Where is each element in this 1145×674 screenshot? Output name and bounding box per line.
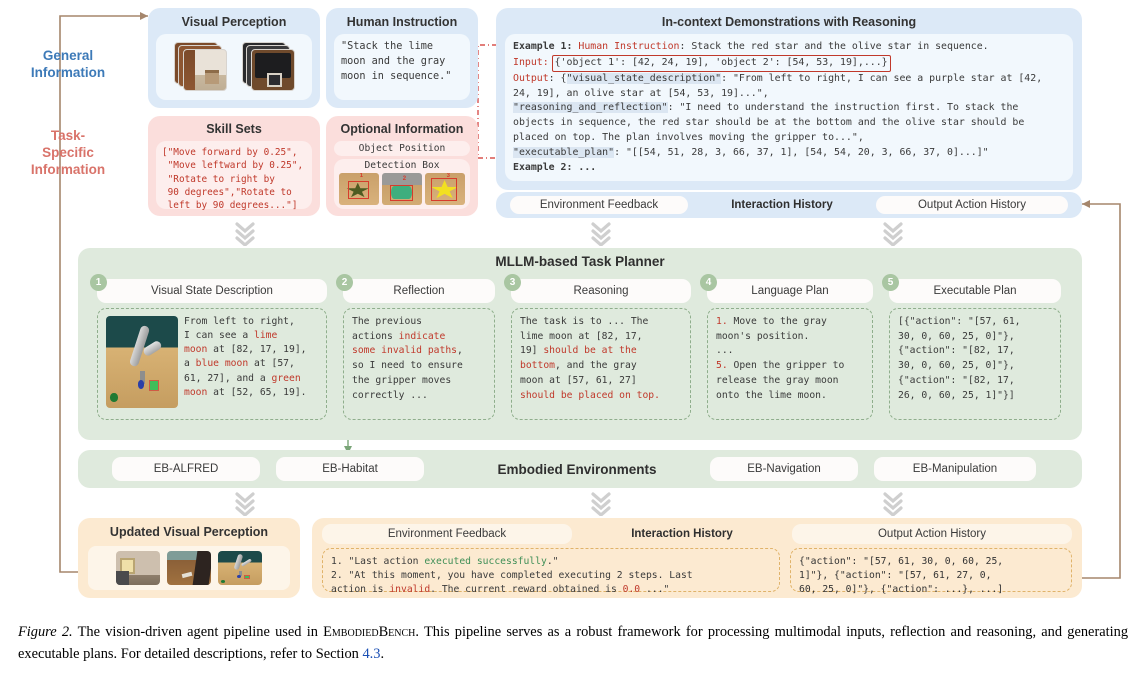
general-information-label: General Information xyxy=(8,48,128,82)
step-badge-1: 1 xyxy=(90,274,107,291)
icl-input-line: Input: {'object 1': [42, 24, 19], 'objec… xyxy=(513,55,1065,72)
updated-thumb-robot xyxy=(218,551,262,585)
skill-sets-card: Skill Sets ["Move forward by 0.25", "Mov… xyxy=(148,116,320,216)
caption-period: . xyxy=(380,646,384,662)
step-body-visual-state-description: From left to right, I can see a lime moo… xyxy=(97,308,327,420)
skill-sets-title: Skill Sets xyxy=(148,122,320,136)
section-reference-link[interactable]: 4.3 xyxy=(362,646,380,662)
detection-label-2: 2 xyxy=(403,176,406,182)
icl-key-visual: "visual_state_description" xyxy=(567,73,722,84)
icl-reasoning-line: "reasoning_and_reflection": "I need to u… xyxy=(513,101,1065,146)
optional-information-card: Optional Information Object Position Det… xyxy=(326,116,478,216)
updated-thumb-kitchen xyxy=(116,551,160,585)
environment-feedback-body: 1. "Last action executed successfully." … xyxy=(322,548,780,592)
icl-example1-role: Human Instruction xyxy=(572,41,679,52)
icl-example1-label: Example 1: xyxy=(513,41,572,52)
task-specific-information-label: Task- Specific Information xyxy=(8,128,128,179)
detection-box-label: Detection Box xyxy=(334,159,470,171)
caption-benchmark-name: EmbodiedBench xyxy=(323,624,415,640)
icl-example1-line: Example 1: Human Instruction: Stack the … xyxy=(513,40,1065,55)
detection-label-1: 1 xyxy=(360,173,363,179)
detection-thumbs: 1 2 3 xyxy=(334,173,470,205)
human-instruction-text: "Stack the lime moon and the gray moon i… xyxy=(334,34,470,100)
detection-label-3: 3 xyxy=(447,173,450,179)
chevron-down-icon-6 xyxy=(880,490,906,516)
tab-environment-feedback-top[interactable]: Environment Feedback xyxy=(510,196,688,214)
object-position-pill[interactable]: Object Position xyxy=(334,141,470,156)
step-badge-5: 5 xyxy=(882,274,899,291)
in-context-demonstrations-card: In-context Demonstrations with Reasoning… xyxy=(496,8,1082,190)
optional-information-title: Optional Information xyxy=(326,122,478,136)
bottom-feedback-card: Environment Feedback Interaction History… xyxy=(312,518,1082,598)
chevron-down-icon-2 xyxy=(588,220,614,246)
chevron-down-icon-5 xyxy=(588,490,614,516)
env-eb-navigation[interactable]: EB-Navigation xyxy=(710,457,858,481)
icl-input-value: {'object 1': [42, 24, 19], 'object 2': [… xyxy=(552,55,891,72)
history-tabs-top: Environment Feedback Interaction History… xyxy=(496,192,1082,218)
skill-sets-text: ["Move forward by 0.25", "Move leftward … xyxy=(156,141,312,209)
human-instruction-card: Human Instruction "Stack the lime moon a… xyxy=(326,8,478,108)
icl-key-plan: "executable_plan" xyxy=(513,147,614,158)
step-badge-3: 3 xyxy=(504,274,521,291)
chevron-down-icon-4 xyxy=(232,490,258,516)
robot-scene-image xyxy=(106,316,178,408)
mllm-task-planner-title: MLLM-based Task Planner xyxy=(78,254,1082,269)
updated-thumb-floor xyxy=(167,551,211,585)
tab-output-action-history-bottom[interactable]: Output Action History xyxy=(792,524,1072,544)
image-stack-alfred xyxy=(174,42,226,92)
icl-input-label: Input: xyxy=(513,56,549,71)
step-title-reasoning[interactable]: Reasoning xyxy=(511,279,691,303)
step-title-reflection[interactable]: Reflection xyxy=(343,279,495,303)
step-badge-4: 4 xyxy=(700,274,717,291)
chevron-down-icon-3 xyxy=(880,220,906,246)
detection-thumb-2: 2 xyxy=(382,173,422,205)
chevron-down-icon-1 xyxy=(232,220,258,246)
embodied-environments-title: Embodied Environments xyxy=(468,457,686,481)
image-stack-desk xyxy=(242,42,294,92)
detection-box-panel: Detection Box 1 2 3 xyxy=(334,159,470,209)
step-body-executable-plan: [{"action": "[57, 61, 30, 0, 60, 25, 0]"… xyxy=(889,308,1061,420)
visual-perception-card: Visual Perception xyxy=(148,8,320,108)
embodied-environments-card: EB-ALFRED EB-Habitat Embodied Environmen… xyxy=(78,450,1082,488)
tab-output-action-history-top[interactable]: Output Action History xyxy=(876,196,1068,214)
mllm-task-planner-card: MLLM-based Task Planner 1 Visual State D… xyxy=(78,248,1082,440)
icl-body: Example 1: Human Instruction: Stack the … xyxy=(505,34,1073,181)
step-body-language-plan: 1. Move to the gray moon's position. ...… xyxy=(707,308,873,420)
env-eb-habitat[interactable]: EB-Habitat xyxy=(276,457,424,481)
figure-label: Figure 2. xyxy=(18,624,73,640)
step-body-reasoning: The task is to ... The lime moon at [82,… xyxy=(511,308,691,420)
output-action-history-body: {"action": "[57, 61, 30, 0, 60, 25, 1]"}… xyxy=(790,548,1072,592)
step-title-executable-plan[interactable]: Executable Plan xyxy=(889,279,1061,303)
step-title-language-plan[interactable]: Language Plan xyxy=(707,279,873,303)
env-eb-manipulation[interactable]: EB-Manipulation xyxy=(874,457,1036,481)
visual-perception-images xyxy=(156,34,312,100)
step-badge-2: 2 xyxy=(336,274,353,291)
updated-visual-perception-images xyxy=(88,546,290,590)
step-title-visual-state-description[interactable]: Visual State Description xyxy=(97,279,327,303)
visual-perception-title: Visual Perception xyxy=(148,15,320,29)
icl-output-line: Output: {"visual_state_description": "Fr… xyxy=(513,72,1065,102)
human-instruction-title: Human Instruction xyxy=(326,15,478,29)
task-specific-line-2: Specific xyxy=(8,145,128,162)
caption-part1: The vision-driven agent pipeline used in xyxy=(73,624,323,640)
icl-example2-line: Example 2: ... xyxy=(513,161,1065,176)
icl-plan-line: "executable_plan": "[[54, 51, 28, 3, 66,… xyxy=(513,146,1065,161)
icl-example1-rest: : Stack the red star and the olive star … xyxy=(679,41,988,52)
general-information-line-2: Information xyxy=(8,65,128,82)
updated-visual-perception-title: Updated Visual Perception xyxy=(78,525,300,539)
step-body-reflection: The previous actions indicate some inval… xyxy=(343,308,495,420)
icl-output-label: Output xyxy=(513,73,549,84)
general-information-line-1: General xyxy=(8,48,128,65)
visual-state-text: From left to right, I can see a lime moo… xyxy=(184,315,318,400)
task-specific-line-1: Task- xyxy=(8,128,128,145)
icl-key-reason: "reasoning_and_reflection" xyxy=(513,102,668,113)
tab-interaction-history-top[interactable]: Interaction History xyxy=(702,196,862,214)
detection-thumb-3: 3 xyxy=(425,173,465,205)
figure-caption: Figure 2. The vision-driven agent pipeli… xyxy=(18,622,1128,665)
tab-interaction-history-bottom[interactable]: Interaction History xyxy=(584,524,780,544)
task-specific-line-3: Information xyxy=(8,162,128,179)
env-eb-alfred[interactable]: EB-ALFRED xyxy=(112,457,260,481)
detection-thumb-1: 1 xyxy=(339,173,379,205)
updated-visual-perception-card: Updated Visual Perception xyxy=(78,518,300,598)
icl-plan-text: : "[[54, 51, 28, 3, 66, 37, 1], [54, 54,… xyxy=(614,147,989,158)
tab-environment-feedback-bottom[interactable]: Environment Feedback xyxy=(322,524,572,544)
icl-title: In-context Demonstrations with Reasoning xyxy=(496,15,1082,29)
